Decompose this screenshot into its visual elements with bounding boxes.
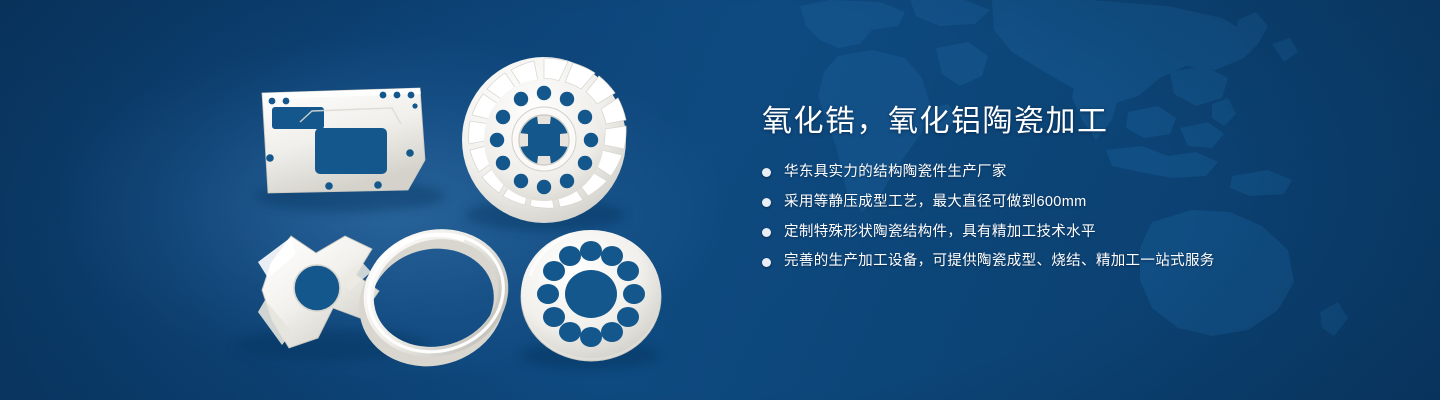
bullet-dot-icon	[762, 258, 771, 267]
bullet-dot-icon	[762, 198, 771, 207]
bullet-dot-icon	[762, 168, 771, 177]
ceramic-machined-plate	[262, 88, 425, 193]
list-item: 采用等静压成型工艺，最大直径可做到600mm	[762, 192, 1392, 214]
ceramic-perforated-disc	[521, 230, 661, 361]
list-item: 华东具实力的结构陶瓷件生产厂家	[762, 162, 1392, 184]
list-item: 完善的生产加工设备，可提供陶瓷成型、烧结、精加工一站式服务	[762, 251, 1392, 273]
bullet-text: 完善的生产加工设备，可提供陶瓷成型、烧结、精加工一站式服务	[784, 251, 1215, 273]
list-item: 定制特殊形状陶瓷结构件，具有精加工技术水平	[762, 222, 1392, 244]
bullet-text: 采用等静压成型工艺，最大直径可做到600mm	[784, 192, 1087, 214]
banner-copy-block: 氧化锆，氧化铝陶瓷加工 华东具实力的结构陶瓷件生产厂家 采用等静压成型工艺，最大…	[762, 104, 1392, 273]
page-title: 氧化锆，氧化铝陶瓷加工	[762, 104, 1392, 140]
ceramic-products-hero-banner: 氧化锆，氧化铝陶瓷加工 华东具实力的结构陶瓷件生产厂家 采用等静压成型工艺，最大…	[0, 0, 1440, 400]
feature-bullet-list: 华东具实力的结构陶瓷件生产厂家 采用等静压成型工艺，最大直径可做到600mm 定…	[762, 162, 1392, 273]
ceramic-impeller-disc	[462, 57, 626, 223]
ceramic-products-image	[0, 0, 720, 400]
bullet-text: 定制特殊形状陶瓷结构件，具有精加工技术水平	[784, 222, 1096, 244]
bullet-dot-icon	[762, 228, 771, 237]
bullet-text: 华东具实力的结构陶瓷件生产厂家	[784, 162, 1007, 184]
